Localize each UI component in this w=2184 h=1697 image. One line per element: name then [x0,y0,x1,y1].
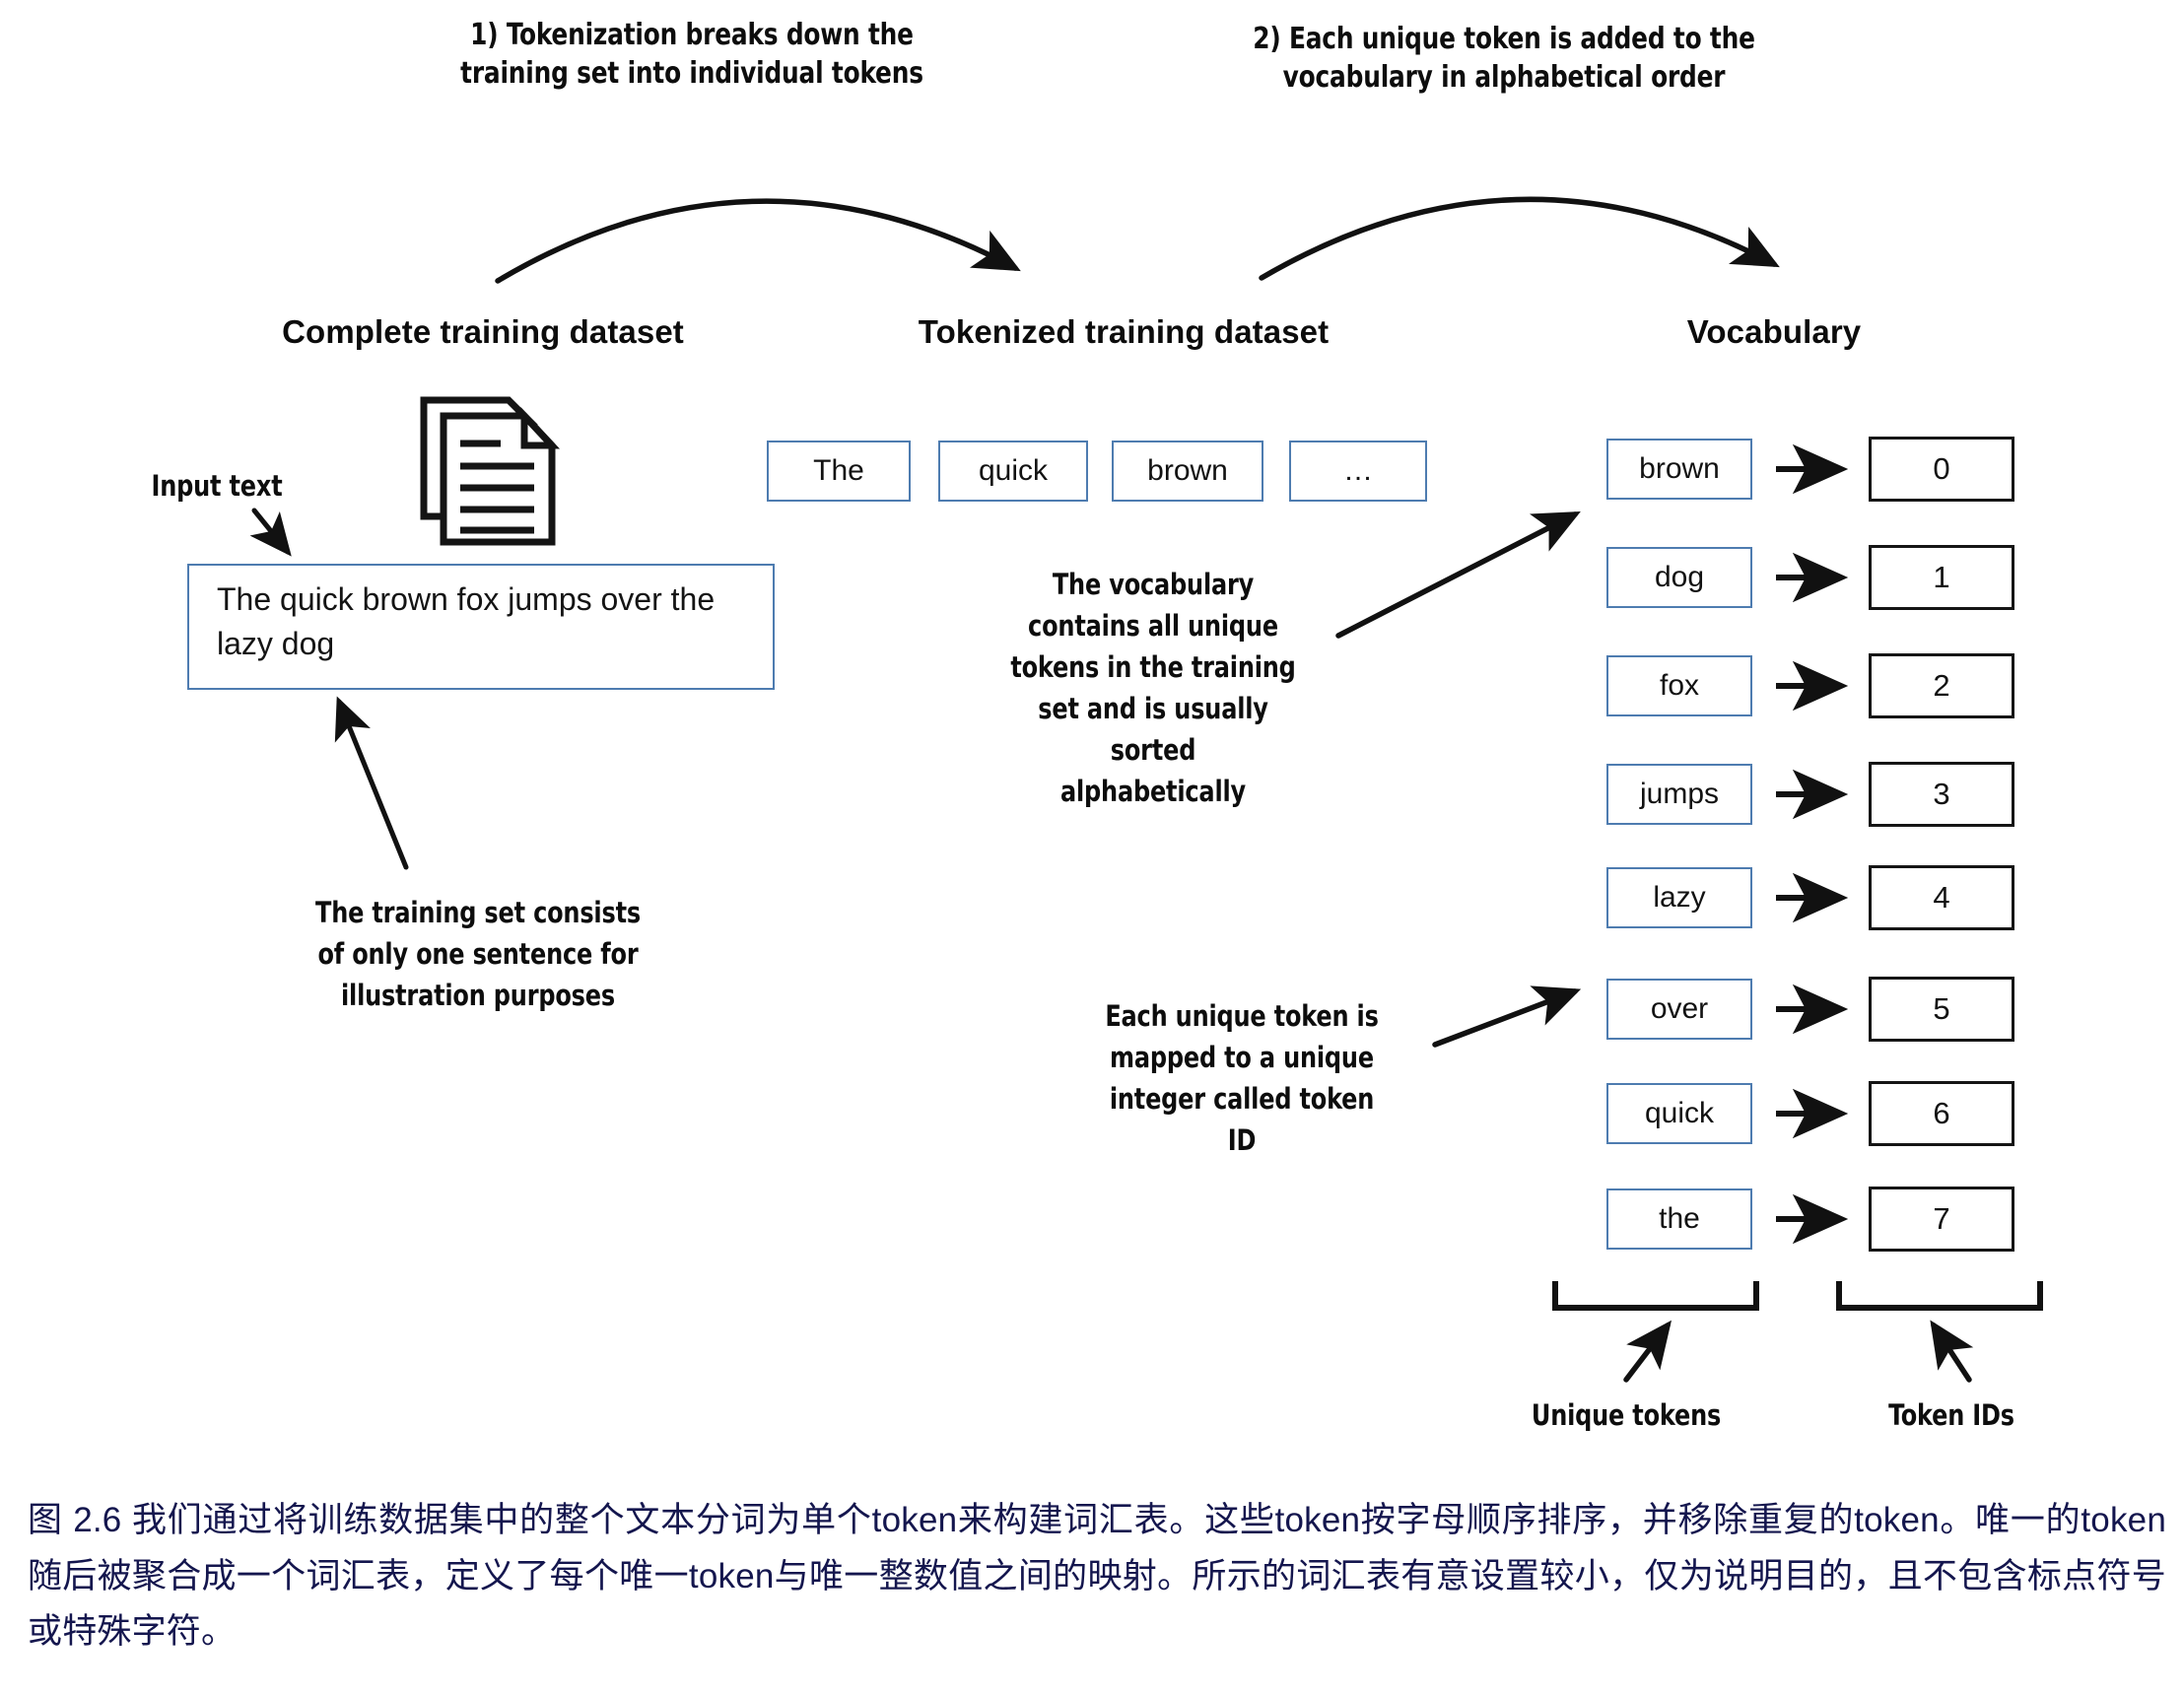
vocab-token-box: over [1606,979,1752,1040]
vocab-token-box: quick [1606,1083,1752,1144]
input-text-value: The quick brown fox jumps over the lazy … [217,581,715,661]
vocab-token-label: brown [1639,452,1720,486]
unique-tokens-bracket [1555,1281,1756,1308]
token-id-box: 1 [1869,545,2014,610]
token-label: The [813,454,864,488]
token-id-value: 6 [1933,1096,1949,1131]
token-ids-label-arrow [1934,1325,1969,1380]
token-id-box: 4 [1869,865,2014,930]
vocab-token-box: fox [1606,655,1752,716]
heading-vocabulary: Vocabulary [1537,313,2011,351]
token-label: … [1343,454,1373,488]
input-text-label: Input text [108,468,326,506]
vocab-token-label: dog [1655,561,1704,594]
token-id-box: 3 [1869,762,2014,827]
heading-tokenized-training-dataset: Tokenized training dataset [808,313,1439,351]
stacked-document-icon [414,394,562,552]
vocab-token-label: over [1651,992,1708,1026]
vocab-token-box: dog [1606,547,1752,608]
token-id-value: 7 [1933,1201,1949,1237]
token-id-box: 6 [1869,1081,2014,1146]
figure-caption: 图 2.6 我们通过将训练数据集中的整个文本分词为单个token来构建词汇表。这… [28,1493,2166,1661]
token-id-box: 5 [1869,977,2014,1042]
vocab-token-label: the [1659,1202,1700,1236]
token-id-box: 2 [1869,653,2014,718]
token-id-value: 3 [1933,777,1949,812]
token-id-value: 5 [1933,991,1949,1027]
vocab-token-box: brown [1606,439,1752,500]
vocab-token-label: quick [1645,1097,1714,1130]
token-box: brown [1112,441,1263,502]
step-2-label: 2) Each unique token is added to the voc… [1223,20,1785,97]
unique-tokens-label-arrow [1626,1325,1668,1380]
training-set-note-arrow [339,702,406,867]
heading-complete-training-dataset: Complete training dataset [148,313,818,351]
vocab-token-label: jumps [1640,778,1719,811]
vocab-token-box: the [1606,1188,1752,1250]
token-label: quick [979,454,1048,488]
token-id-value: 4 [1933,880,1949,916]
token-box: quick [938,441,1088,502]
token-box-ellipsis: … [1289,441,1427,502]
step-1-label: 1) Tokenization breaks down the training… [411,16,973,93]
token-id-value: 1 [1933,560,1949,595]
unique-tokens-label: Unique tokens [1490,1397,1762,1435]
vocab-token-label: fox [1660,669,1699,703]
token-box: The [767,441,911,502]
token-ids-bracket [1839,1281,2040,1308]
token-id-box: 7 [1869,1187,2014,1252]
token-ids-label: Token IDs [1815,1397,2087,1435]
token-id-box: 0 [1869,437,2014,502]
input-text-box: The quick brown fox jumps over the lazy … [187,564,775,690]
vocab-token-box: jumps [1606,764,1752,825]
token-label: brown [1147,454,1228,488]
figure-canvas: 1) Tokenization breaks down the training… [0,0,2184,1697]
step-2-curved-arrow [1262,199,1774,278]
training-set-note: The training set consists of only one se… [265,892,691,1016]
vocab-token-box: lazy [1606,867,1752,928]
vocabulary-note: The vocabulary contains all unique token… [963,564,1343,812]
token-id-note: Each unique token is mapped to a unique … [1052,995,1432,1161]
input-text-pointer-arrow [254,510,288,552]
step-1-curved-arrow [498,201,1015,281]
token-id-value: 0 [1933,451,1949,487]
vocab-token-label: lazy [1653,881,1705,915]
vocabulary-note-arrow [1338,514,1575,636]
token-id-note-arrow [1435,991,1575,1045]
token-id-value: 2 [1933,668,1949,704]
connector-overlay [0,0,2184,1697]
